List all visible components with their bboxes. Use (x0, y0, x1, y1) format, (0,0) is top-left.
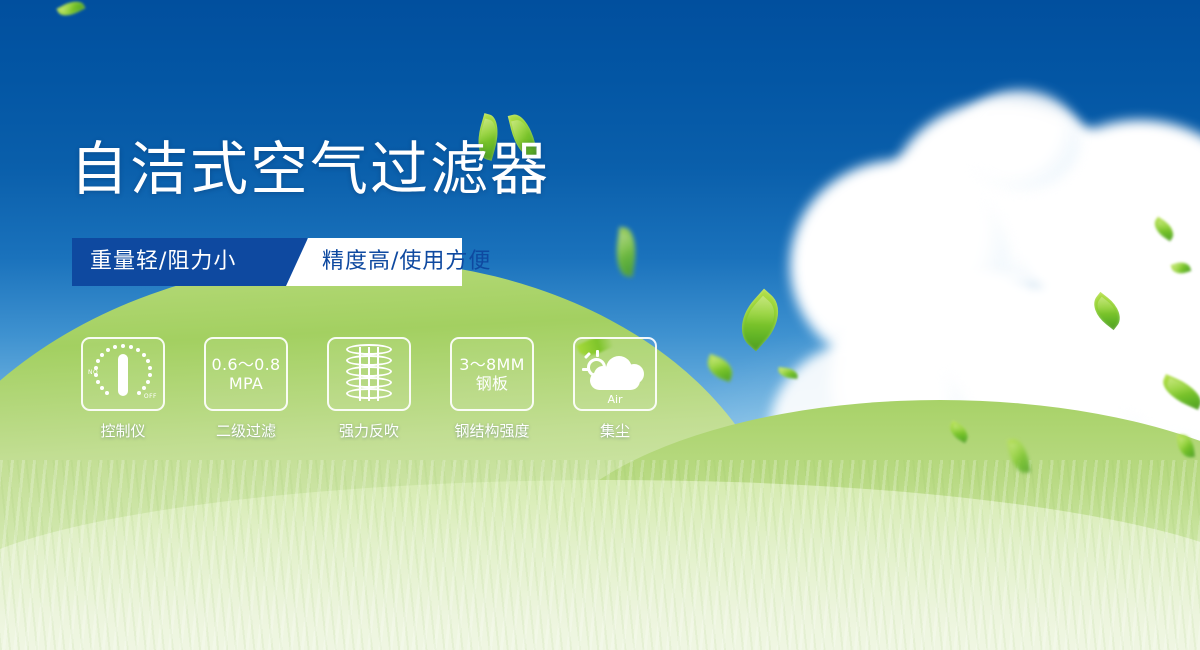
pressure-unit: MPA (212, 374, 281, 393)
feature-icon-box: NO OFF (81, 337, 165, 411)
gauge-off-label: OFF (144, 393, 157, 400)
feature-label: 集尘 (600, 420, 630, 441)
air-label: Air (582, 393, 648, 406)
grass-field (0, 460, 1200, 650)
feature-item-steel-strength[interactable]: 3〜8MM 钢板 钢结构强度 (450, 337, 534, 441)
leaf-icon (576, 337, 614, 360)
pressure-range: 0.6〜0.8 (212, 355, 281, 374)
feature-icon-box (327, 337, 411, 411)
cloud-base (590, 371, 640, 390)
feature-icon-box: Air (573, 337, 657, 411)
steel-thickness: 3〜8MM (459, 355, 524, 374)
feature-icon-box: 3〜8MM 钢板 (450, 337, 534, 411)
feature-item-two-stage-filtration[interactable]: 0.6〜0.8 MPA 二级过滤 (204, 337, 288, 441)
feature-icon-box: 0.6〜0.8 MPA (204, 337, 288, 411)
feature-item-control-unit[interactable]: NO OFF 控制仪 (81, 337, 165, 441)
banner-stage: 自洁式空气过滤器 重量轻/阻力小 精度高/使用方便 (0, 0, 1200, 650)
feature-item-strong-backblow[interactable]: 强力反吹 (327, 337, 411, 441)
steel-material: 钢板 (459, 374, 524, 393)
feature-label: 控制仪 (100, 420, 145, 441)
filter-cartridge-icon (346, 344, 392, 404)
page-title: 自洁式空气过滤器 (70, 140, 550, 198)
pressure-text-icon: 0.6〜0.8 MPA (212, 355, 281, 393)
switch-lever-icon (118, 354, 128, 396)
feature-label: 二级过滤 (216, 420, 276, 441)
cloud-air-icon: Air (582, 344, 648, 404)
steel-plate-text-icon: 3〜8MM 钢板 (459, 355, 524, 393)
subtitle-right-text: 精度高/使用方便 (322, 238, 491, 286)
gauge-no-label: NO (88, 369, 98, 376)
feature-label: 钢结构强度 (454, 420, 529, 441)
feature-list: NO OFF 控制仪 0.6〜0.8 MPA 二级过滤 (81, 337, 657, 441)
gauge-switch-icon: NO OFF (89, 343, 157, 405)
feature-item-dust-collection[interactable]: Air 集尘 (573, 337, 657, 441)
subtitle-left-text: 重量轻/阻力小 (90, 238, 236, 286)
feature-label: 强力反吹 (339, 420, 399, 441)
subtitle-band: 重量轻/阻力小 精度高/使用方便 (72, 238, 462, 286)
